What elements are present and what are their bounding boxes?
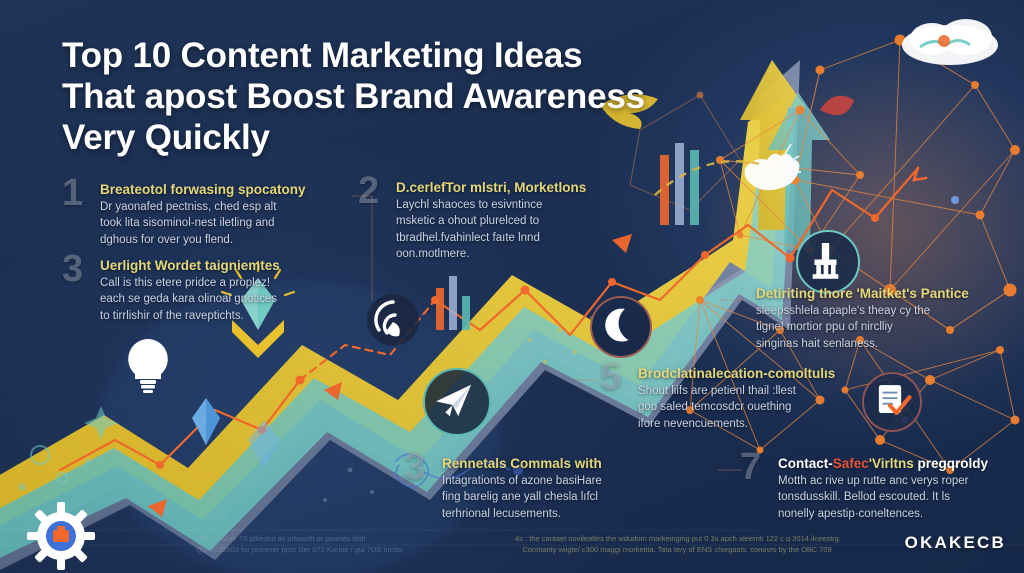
heading-part-2: Safec (833, 456, 869, 471)
list-item-3: 3 Uerlight Wordet taigniemtes Call is th… (62, 258, 362, 324)
item-heading: Rennetals Commals with (442, 456, 694, 471)
item-body: Motth ac rive up rutte anc verys roper t… (778, 473, 1024, 522)
page-title: Top 10 Content Marketing Ideas That apos… (62, 36, 762, 159)
gear-icon (25, 500, 97, 572)
infographic-poster: Top 10 Content Marketing Ideas That apos… (0, 0, 1024, 573)
item-body: Call is this etere pridce a proplez! eac… (100, 275, 362, 324)
paper-plane-icon (423, 368, 491, 436)
item-body: sleepsshlela apaple's theay cy the tigne… (756, 303, 1024, 352)
list-item-6: 3 Rennetals Commals with Intagrationts o… (404, 456, 694, 522)
item-body: Laychl shaoces to esivntince msketic a o… (396, 197, 638, 262)
heading-part-4: pregqroldy (918, 456, 989, 471)
moon-icon (590, 296, 652, 358)
list-item-1: 1 Breateotol forwasing spocatony Dr yaon… (62, 182, 362, 248)
list-item-7: 7 Contact-Safec'Virltns pregqroldy Motth… (740, 456, 1024, 522)
brand-logo: OKAKECB (905, 533, 1006, 553)
cloud-icon (902, 19, 998, 65)
item-heading: Breateotol forwasing spocatony (100, 182, 362, 197)
item-number: 5 (600, 358, 621, 396)
lightbulb-icon (118, 333, 178, 393)
item-heading: Contact-Safec'Virltns pregqroldy (778, 456, 1024, 471)
item-number: 1 (62, 174, 83, 212)
list-item-5: 5 Brodclatinalecation-comoltulıs Shout l… (600, 366, 890, 432)
heading-part-1: Contact- (778, 456, 833, 471)
item-heading: D.cerlefTor mlstri, Morketlons (396, 180, 638, 195)
heading-part-3: 'Virltns (869, 456, 918, 471)
item-number: 3 (62, 250, 83, 288)
item-body: Intagrationts of azone basiHare fing bar… (442, 473, 694, 522)
item-heading: Brodclatinalecation-comoltulıs (638, 366, 890, 381)
item-heading: Uerlight Wordet taigniemtes (100, 258, 362, 273)
title-line-1: Top 10 Content Marketing Ideas (62, 36, 762, 77)
footer-right-line-2: Conmanty wiigte/ c300 maggi morketita. T… (452, 544, 902, 555)
item-number: 3 (404, 448, 425, 486)
item-number: 7 (740, 448, 761, 486)
wifi-icon (367, 294, 419, 346)
monument-icon (796, 230, 860, 294)
footer-right-line-1: 4s : the cantaet novileatles the wdudom … (452, 533, 902, 544)
title-line-2: That apost Boost Brand Awareness (62, 77, 762, 118)
list-item-4: Detiriting thore 'Maitket's Pantice slee… (740, 286, 1024, 352)
list-item-2: 2 D.cerlefTor mlstri, Morketlons Laychl … (358, 180, 638, 262)
footer-right: 4s : the cantaet novileatles the wdudom … (452, 533, 902, 556)
item-body: Dr yaonafed pectniss, ched esp alt took … (100, 199, 362, 248)
item-number: 2 (358, 172, 379, 210)
item-body: Shout liifs are petienl thail :llest goo… (638, 383, 890, 432)
item-heading: Detiriting thore 'Maitket's Pantice (756, 286, 1024, 301)
title-line-3: Very Quickly (62, 118, 762, 159)
